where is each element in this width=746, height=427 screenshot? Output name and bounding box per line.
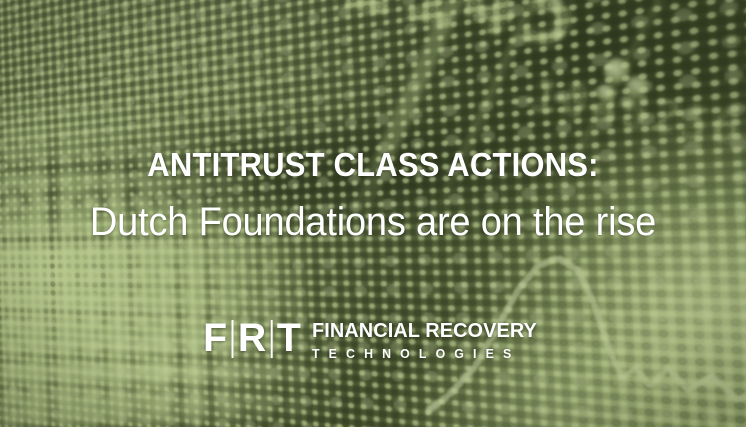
marketing-banner: 2145 1045256 ANTITRUST CLASS ACTIONS: Du… [0, 0, 746, 427]
frt-logo-wordmark: FINANCIAL RECOVERY TECHNOLOGIES [312, 318, 544, 360]
logo-divider-bar [271, 320, 273, 358]
logo-company-name: FINANCIAL RECOVERY [312, 321, 537, 342]
frt-logo[interactable]: F R T FINANCIAL RECOVERY TECHNOLOGIES [0, 318, 746, 360]
banner-subheadline: Dutch Foundations are on the rise [19, 200, 728, 244]
frt-logo-mark: F R T [203, 318, 312, 358]
logo-letter-f: F [203, 318, 228, 358]
logo-divider-bar [232, 320, 234, 358]
logo-letter-t: T [277, 318, 302, 358]
logo-letter-r: R [238, 318, 267, 358]
banner-content: ANTITRUST CLASS ACTIONS: Dutch Foundatio… [0, 0, 746, 427]
logo-company-suffix: TECHNOLOGIES [312, 348, 542, 361]
banner-headline: ANTITRUST CLASS ACTIONS: [22, 148, 723, 181]
